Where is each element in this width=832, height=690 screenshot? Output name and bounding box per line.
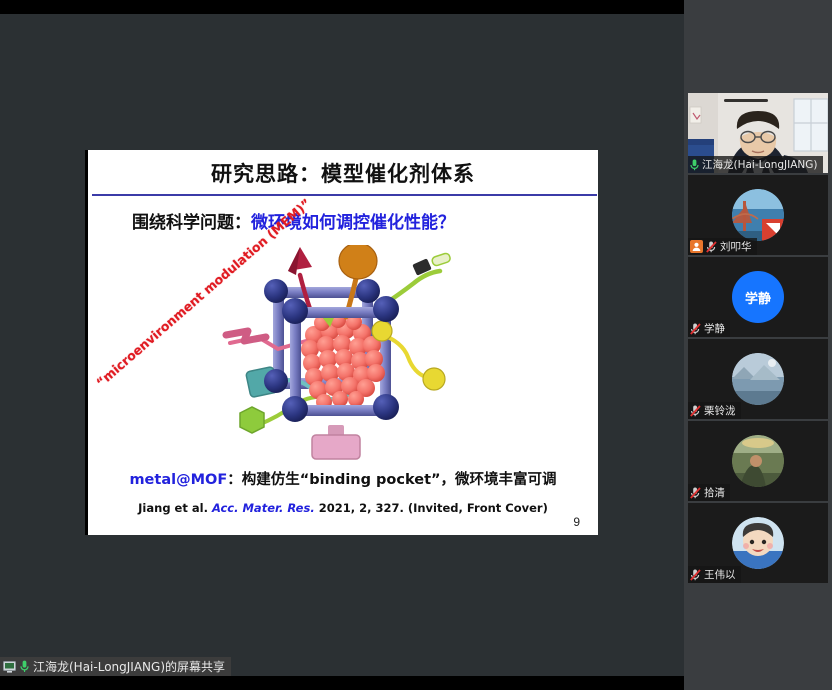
participant-tile[interactable]: 刘叩华 [688, 175, 828, 255]
slide-title: 研究思路：模型催化剂体系 [88, 158, 598, 188]
slide-page-number: 9 [573, 515, 580, 529]
letterbox-top [0, 0, 684, 14]
host-badge-icon [690, 240, 703, 253]
slide-conclusion: metal@MOF：构建仿生“binding pocket”，微环境丰富可调 [88, 468, 598, 489]
mic-muted-icon [706, 241, 717, 253]
participant-label: 栗铃泷 [688, 402, 741, 419]
zoom-meeting-window: 研究思路：模型催化剂体系 围绕科学问题：微环境如何调控催化性能？ “microe… [0, 0, 832, 690]
shared-screen-region[interactable]: 研究思路：模型催化剂体系 围绕科学问题：微环境如何调控催化性能？ “microe… [0, 0, 684, 690]
participant-label: 拾清 [688, 484, 730, 501]
mic-on-icon [20, 660, 29, 673]
mof-cage-nanoparticle-diagram [218, 245, 458, 460]
avatar [732, 517, 784, 569]
participant-label: 学静 [688, 320, 730, 337]
participant-name: 王伟以 [704, 567, 736, 582]
shared-desktop: 研究思路：模型催化剂体系 围绕科学问题：微环境如何调控催化性能？ “microe… [0, 14, 684, 676]
mic-muted-icon [690, 323, 701, 335]
slide-subtitle-prefix: 围绕科学问题： [132, 213, 251, 233]
mic-muted-icon [690, 569, 701, 581]
monitor-icon [3, 661, 16, 673]
participant-label: 刘叩华 [688, 238, 757, 255]
letterbox-bottom [0, 676, 684, 690]
avatar [732, 435, 784, 487]
participant-label: 王伟以 [688, 566, 741, 583]
pink-rect-group [312, 425, 360, 459]
slide-conclusion-rest: ：构建仿生“binding pocket”，微环境丰富可调 [227, 472, 556, 488]
participant-name: 拾清 [704, 485, 725, 500]
mic-muted-icon [690, 405, 701, 417]
presentation-slide: 研究思路：模型催化剂体系 围绕科学问题：微环境如何调控催化性能？ “microe… [85, 150, 598, 535]
participant-tile[interactable]: 拾清 [688, 421, 828, 501]
participant-name: 学静 [704, 321, 725, 336]
participant-name: 栗铃泷 [704, 403, 736, 418]
citation-journal: Acc. Mater. Res. [212, 501, 315, 515]
screen-share-status-bar: 江海龙(Hai-LongJIANG)的屏幕共享 [0, 657, 231, 676]
participant-sidebar[interactable]: 江海龙(Hai-LongJIANG) [684, 0, 832, 690]
citation-rest: 2021, 2, 327. (Invited, Front Cover) [315, 501, 548, 515]
participant-name: 江海龙(Hai-LongJIANG) [702, 157, 818, 172]
participant-name: 刘叩华 [720, 239, 752, 254]
slide-conclusion-lead: metal@MOF [129, 472, 227, 488]
mic-muted-icon [690, 487, 701, 499]
participant-tile[interactable]: 江海龙(Hai-LongJIANG) [688, 93, 828, 173]
avatar [732, 353, 784, 405]
participant-label: 江海龙(Hai-LongJIANG) [688, 156, 823, 173]
participant-tile[interactable]: 栗铃泷 [688, 339, 828, 419]
avatar [732, 189, 784, 241]
participant-tile[interactable]: 学静 学静 [688, 257, 828, 337]
mic-on-icon [690, 159, 699, 171]
slide-title-divider [92, 194, 597, 196]
citation-author: Jiang et al. [138, 501, 212, 515]
avatar: 学静 [732, 271, 784, 323]
slide-citation: Jiang et al. Acc. Mater. Res. 2021, 2, 3… [88, 501, 598, 515]
participant-tile[interactable]: 王伟以 [688, 503, 828, 583]
share-status-text: 江海龙(Hai-LongJIANG)的屏幕共享 [33, 658, 225, 675]
